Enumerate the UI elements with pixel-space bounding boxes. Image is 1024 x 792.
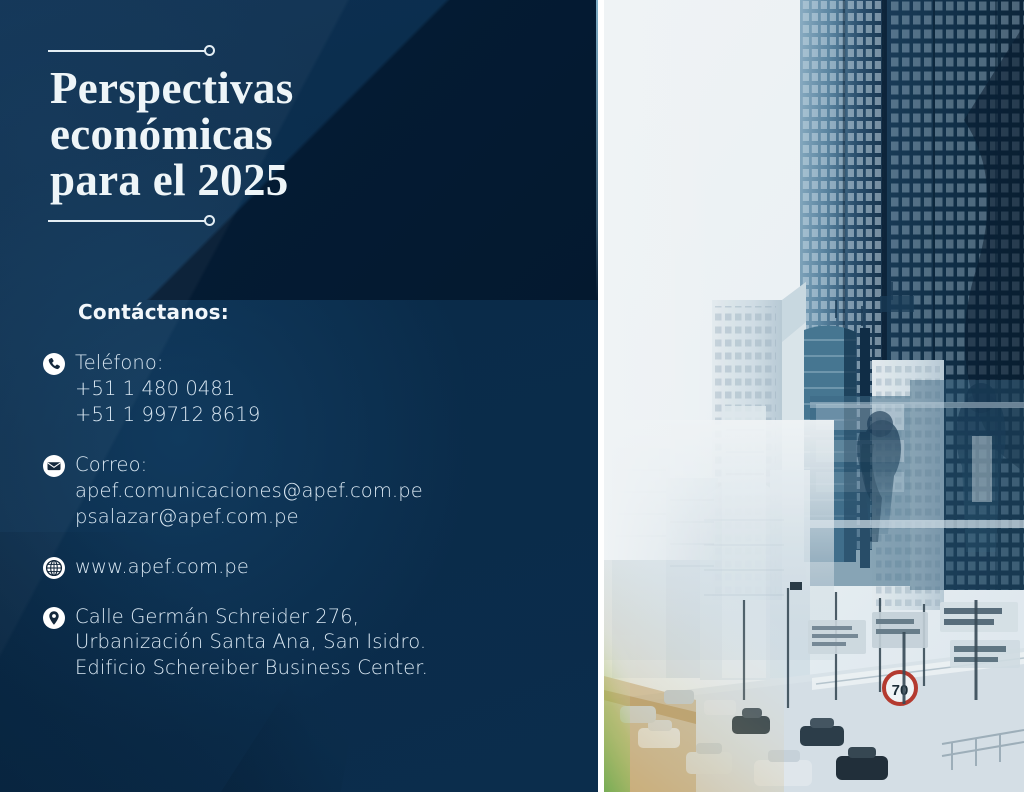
rule-circle-icon [204, 45, 215, 56]
contact-text-email: Correo: apef.comunicaciones@apef.com.pe … [75, 452, 423, 530]
contact-item-phone[interactable]: Teléfono: +51 1 480 0481 +51 1 99712 861… [42, 350, 562, 428]
city-double-exposure-image: 70 [604, 0, 1024, 792]
city-photo-panel: 70 [604, 0, 1024, 792]
mail-icon [42, 454, 66, 478]
contact-item-email[interactable]: Correo: apef.comunicaciones@apef.com.pe … [42, 452, 562, 530]
contact-text-phone: Teléfono: +51 1 480 0481 +51 1 99712 861… [75, 350, 260, 428]
left-info-panel: Perspectivas económicas para el 2025 Con… [0, 0, 598, 792]
heading-block: Perspectivas económicas para el 2025 [48, 44, 388, 228]
phone-icon [42, 352, 66, 376]
contact-heading: Contáctanos: [78, 300, 562, 324]
contact-text-address: Calle Germán Schreider 276, Urbanización… [75, 604, 428, 682]
decorative-rule-top [48, 44, 215, 58]
rule-line [48, 220, 205, 222]
panel-right-edge-highlight [596, 0, 598, 300]
decorative-rule-bottom [48, 214, 215, 228]
poster-page: Perspectivas económicas para el 2025 Con… [0, 0, 1024, 792]
page-title: Perspectivas económicas para el 2025 [50, 66, 388, 204]
contact-item-address[interactable]: Calle Germán Schreider 276, Urbanización… [42, 604, 562, 682]
rule-line [48, 50, 205, 52]
contact-item-website[interactable]: www.apef.com.pe [42, 554, 562, 580]
globe-icon [42, 556, 66, 580]
contact-text-website: www.apef.com.pe [75, 554, 249, 580]
rule-circle-icon [204, 215, 215, 226]
contact-block: Contáctanos: Teléfono: +51 1 480 0481 +5… [42, 300, 562, 705]
location-pin-icon [42, 606, 66, 630]
